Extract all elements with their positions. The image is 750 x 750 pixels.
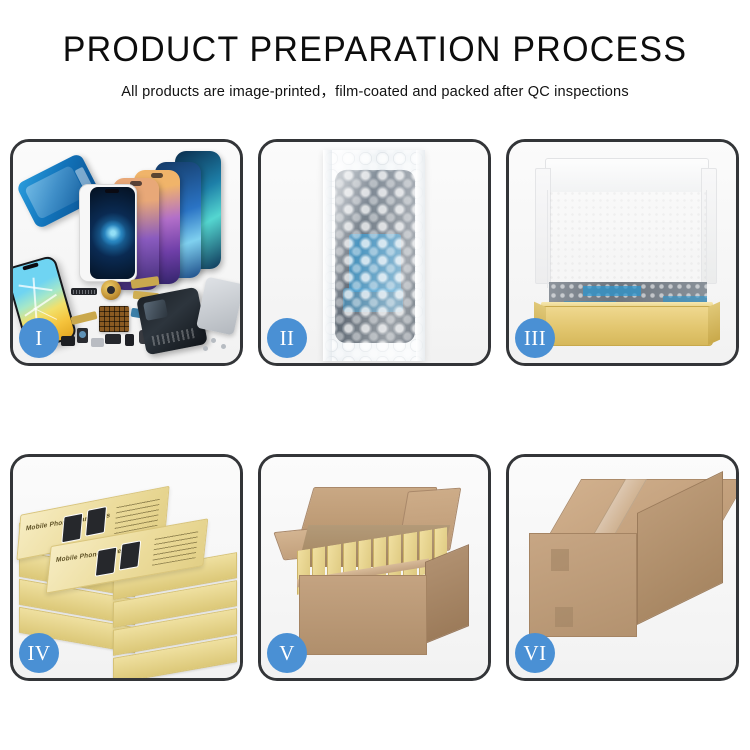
speaker-part bbox=[105, 334, 121, 344]
box-spec-lines bbox=[152, 529, 198, 566]
sealed-carton-icon bbox=[525, 479, 725, 663]
box-window-right bbox=[119, 540, 142, 570]
step-badge-3: III bbox=[515, 318, 555, 358]
screw-part bbox=[211, 338, 216, 343]
step-panel-5: V bbox=[258, 454, 491, 681]
sim-tray-part bbox=[91, 338, 104, 347]
step-panel-3: III bbox=[506, 139, 739, 366]
speaker-coil-part bbox=[101, 280, 121, 300]
screw-part bbox=[221, 344, 226, 349]
carton-side-face bbox=[425, 544, 469, 644]
step-panel-1: I bbox=[10, 139, 243, 366]
connector-strip-part bbox=[71, 288, 97, 295]
product-preparation-page: PRODUCT PREPARATION PROCESS All products… bbox=[0, 0, 750, 750]
step-badge-1: I bbox=[19, 318, 59, 358]
open-carton-icon bbox=[279, 487, 475, 659]
chip-part bbox=[61, 336, 75, 346]
step-badge-6: VI bbox=[515, 633, 555, 673]
carton-tab-upper bbox=[551, 549, 569, 571]
box-window-left bbox=[95, 547, 118, 577]
process-steps-grid: I II bbox=[10, 139, 740, 681]
bag-seal-right bbox=[416, 150, 425, 361]
step-badge-4: IV bbox=[19, 633, 59, 673]
carton-front-face bbox=[299, 575, 427, 655]
packed-box bbox=[403, 532, 416, 578]
step-panel-4: Mobile Phone Spare Parts Mobile Phone Sp… bbox=[10, 454, 243, 681]
notch-icon bbox=[105, 189, 119, 193]
box-lid bbox=[545, 158, 709, 192]
box-window-right bbox=[85, 506, 107, 537]
step-badge-2: II bbox=[267, 318, 307, 358]
step-badge-5: V bbox=[267, 633, 307, 673]
foam-lining bbox=[547, 190, 707, 288]
carton-tab-lower bbox=[555, 607, 573, 627]
flex-cable-part bbox=[70, 311, 97, 325]
page-header: PRODUCT PREPARATION PROCESS All products… bbox=[0, 0, 750, 101]
camera-module-part bbox=[77, 328, 88, 343]
mesh-grid-part bbox=[99, 306, 129, 332]
phone-display-1-icon bbox=[79, 184, 137, 282]
carton-front-face bbox=[529, 533, 637, 637]
packed-box bbox=[388, 534, 401, 580]
box-front-wall bbox=[541, 306, 713, 346]
screw-part bbox=[203, 346, 208, 351]
page-subtitle: All products are image-printed，film-coat… bbox=[0, 80, 750, 101]
page-title: PRODUCT PREPARATION PROCESS bbox=[11, 32, 739, 69]
plastic-sheen bbox=[323, 150, 425, 361]
screen-glass bbox=[90, 187, 135, 279]
foam-mailer-box-icon bbox=[531, 156, 721, 346]
bag-seal-left bbox=[323, 150, 332, 361]
box-window-left bbox=[61, 513, 83, 544]
button-part bbox=[125, 334, 134, 346]
metal-shield-part bbox=[196, 277, 243, 336]
bubble-wrap-bag-icon bbox=[323, 150, 425, 361]
step-panel-2: II bbox=[258, 139, 491, 366]
step-panel-6: VI bbox=[506, 454, 739, 681]
